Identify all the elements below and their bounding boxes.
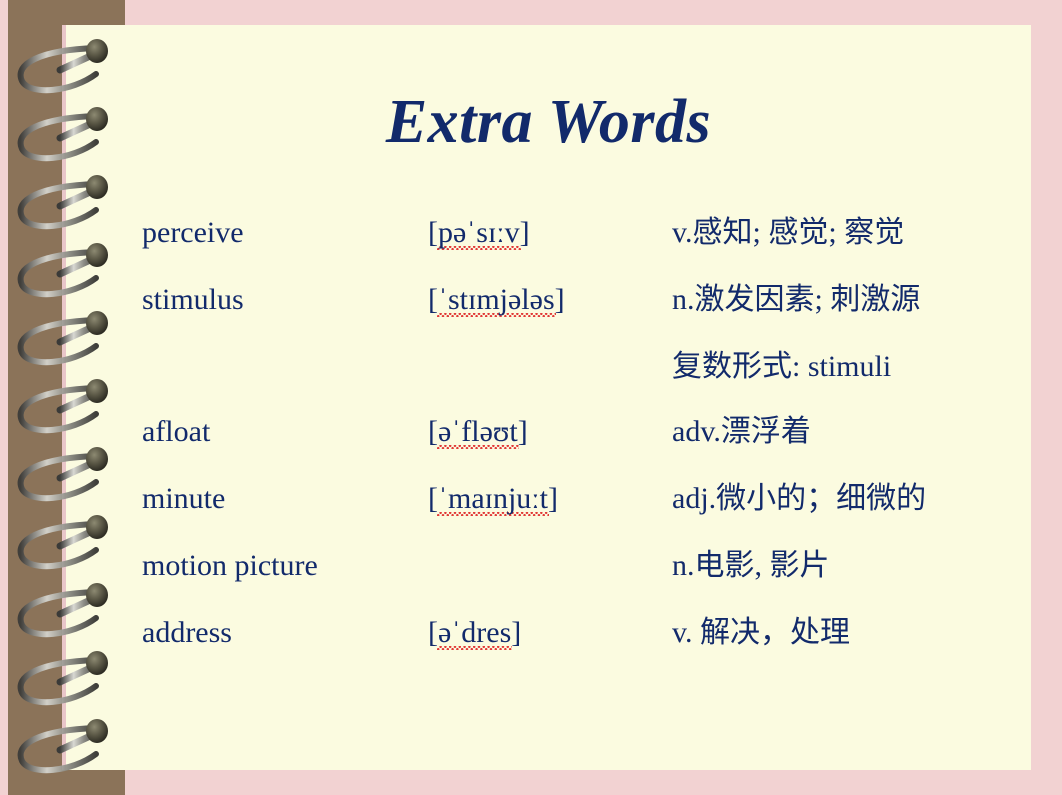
word-term: minute xyxy=(142,479,225,519)
word-definition: adj.微小的；细微的 xyxy=(672,479,926,519)
word-definition: n.激发因素; 刺激源 xyxy=(672,280,920,320)
word-term: address xyxy=(142,613,232,653)
phonetic-spellcheck-wrapper: [ˈstɪmjələs] xyxy=(428,280,565,320)
phonetic-text: [ˈmaɪnjuːt] xyxy=(428,482,558,515)
word-definition: n.电影, 影片 xyxy=(672,546,830,586)
word-entry-row: afloat[əˈfləʊt]adv.漂浮着 xyxy=(142,412,1022,479)
word-entry-row: 复数形式: stimuli xyxy=(142,347,1022,412)
word-term: perceive xyxy=(142,213,244,253)
phonetic-text: [əˈfləʊt] xyxy=(428,415,528,448)
phonetic-text: [əˈdres] xyxy=(428,616,521,649)
word-entry-row: address[əˈdres]v. 解决，处理 xyxy=(142,613,1022,680)
word-phonetic: [əˈfləʊt] xyxy=(428,412,528,452)
word-term: motion picture xyxy=(142,546,318,586)
word-term: afloat xyxy=(142,412,210,452)
notebook-page: Extra Words perceive[pəˈsɪːv]v.感知; 感觉; 察… xyxy=(66,25,1031,770)
phonetic-spellcheck-wrapper: [əˈfləʊt] xyxy=(428,412,528,452)
word-phonetic: [ˈmaɪnjuːt] xyxy=(428,479,558,519)
page-title: Extra Words xyxy=(66,87,1031,158)
word-definition: v. 解决，处理 xyxy=(672,613,850,653)
word-entry-row: perceive[pəˈsɪːv]v.感知; 感觉; 察觉 xyxy=(142,213,1022,280)
word-definition: 复数形式: stimuli xyxy=(672,347,891,387)
phonetic-spellcheck-wrapper: [əˈdres] xyxy=(428,613,521,653)
slide-canvas: Extra Words perceive[pəˈsɪːv]v.感知; 感觉; 察… xyxy=(0,0,1062,795)
word-list: perceive[pəˈsɪːv]v.感知; 感觉; 察觉stimulus[ˈs… xyxy=(142,213,1022,680)
word-definition: v.感知; 感觉; 察觉 xyxy=(672,213,904,253)
word-phonetic: [ˈstɪmjələs] xyxy=(428,280,565,320)
phonetic-spellcheck-wrapper: [ˈmaɪnjuːt] xyxy=(428,479,558,519)
word-entry-row: minute[ˈmaɪnjuːt]adj.微小的；细微的 xyxy=(142,479,1022,546)
phonetic-text: [ˈstɪmjələs] xyxy=(428,283,565,316)
word-phonetic: [əˈdres] xyxy=(428,613,521,653)
word-entry-row: motion picturen.电影, 影片 xyxy=(142,546,1022,613)
phonetic-spellcheck-wrapper: [pəˈsɪːv] xyxy=(428,213,530,253)
word-term: stimulus xyxy=(142,280,244,320)
word-entry-row: stimulus[ˈstɪmjələs]n.激发因素; 刺激源 xyxy=(142,280,1022,347)
word-definition: adv.漂浮着 xyxy=(672,412,811,452)
phonetic-text: [pəˈsɪːv] xyxy=(428,216,530,249)
word-phonetic: [pəˈsɪːv] xyxy=(428,213,530,253)
